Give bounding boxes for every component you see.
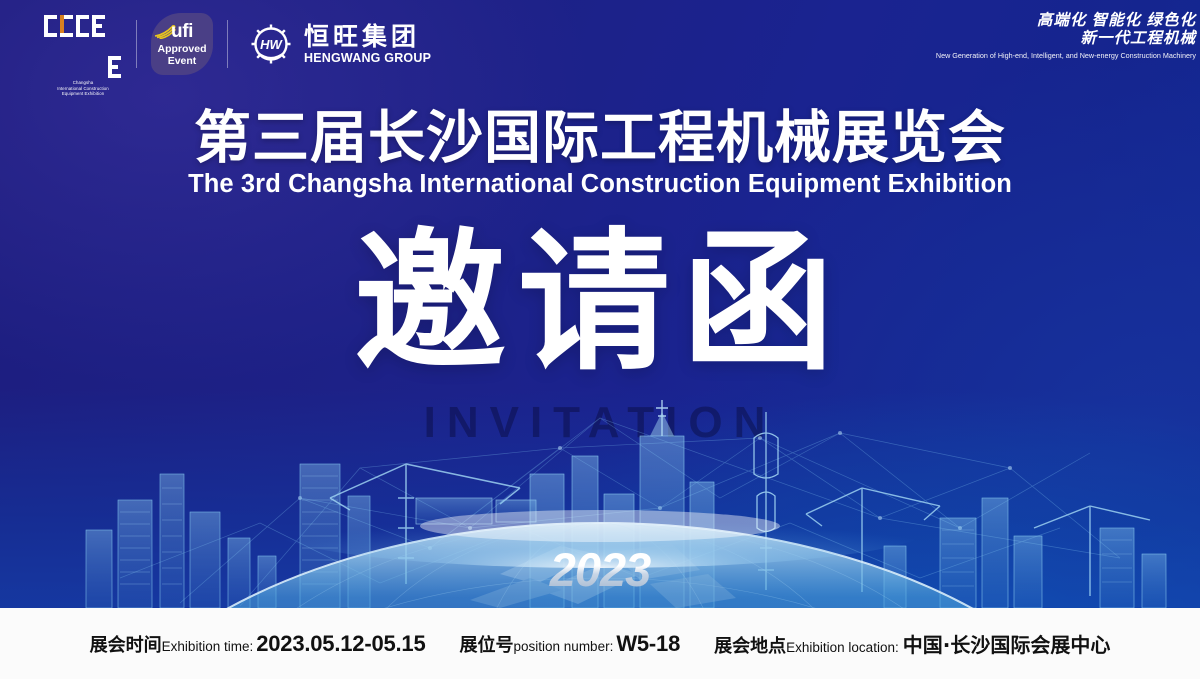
slogan-english: New Generation of High-end, Intelligent,… [936,50,1196,61]
cicee-wordmark-row2-icon [44,56,122,78]
slogan-line-2: 新一代工程机械 [936,30,1196,48]
cicee-subline-3: Equipment Exhibition [44,91,122,97]
hengwang-name-cn: 恒旺集团 [304,24,431,50]
page-title-en: The 3rd Changsha International Construct… [0,170,1200,198]
booth-number-label-cn: 展位号 [460,631,514,657]
hengwang-logo: HW 恒旺集团 HENGWANG GROUP [246,19,431,69]
logo-group: Changsha International Construction Equi… [44,13,431,75]
booth-number-label-en: position number: [514,639,614,654]
exhibition-time-item: 展会时间 Exhibition time: 2023.05.12-05.15 [90,631,426,657]
header-slogan: 高端化 智能化 绿色化 新一代工程机械 New Generation of Hi… [936,12,1196,61]
svg-text:HW: HW [260,37,283,52]
exhibition-location-item: 展会地点 Exhibition location: 中国·长沙国际会展中心 [714,629,1110,658]
exhibition-time-label-en: Exhibition time: [162,639,254,654]
ufi-approved-label: Approved [151,43,213,55]
ufi-wordmark: ufi [171,22,193,41]
year-label: 2023 [0,545,1200,595]
page-title-cn: 第三届长沙国际工程机械展览会 [0,106,1200,170]
booth-number-item: 展位号 position number: W5-18 [460,631,681,657]
logo-divider-2 [227,20,228,68]
cicee-logo: Changsha International Construction Equi… [44,15,122,73]
cicee-sublines: Changsha International Construction Equi… [44,80,122,97]
invitation-heading: 邀请函 [0,218,1200,388]
ufi-approved-event-logo: ufi Approved Event [151,13,213,75]
booth-number-value: W5-18 [616,631,680,657]
invitation-poster: Changsha International Construction Equi… [0,0,1200,679]
ufi-event-label: Event [151,55,213,67]
invitation-word-cn: 邀请函 [354,218,846,388]
exhibition-location-label-cn: 展会地点 [714,632,786,658]
exhibition-location-label-en: Exhibition location: [786,640,899,655]
exhibition-location-value: 中国·长沙国际会展中心 [903,629,1111,658]
logo-divider-1 [136,20,137,68]
header: Changsha International Construction Equi… [0,0,1200,86]
slogan-line-1: 高端化 智能化 绿色化 [936,12,1196,30]
exhibition-time-value: 2023.05.12-05.15 [256,631,425,657]
footer-info-bar: 展会时间 Exhibition time: 2023.05.12-05.15 展… [0,608,1200,679]
hengwang-name-en: HENGWANG GROUP [304,51,431,65]
exhibition-time-label-cn: 展会时间 [90,631,162,657]
gear-icon: HW [246,19,296,69]
cicee-wordmark-icon [44,15,122,55]
